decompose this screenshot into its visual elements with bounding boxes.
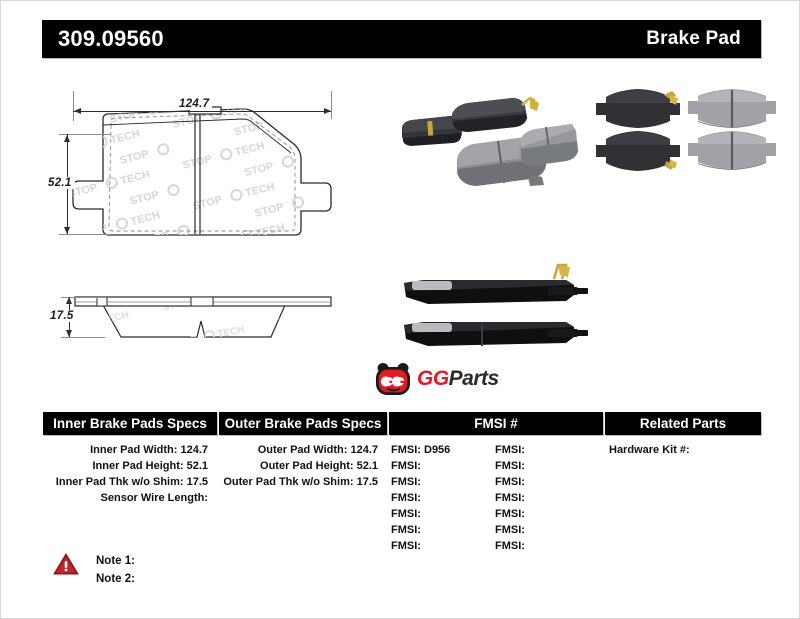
fmsi-row: FMSI: [495,458,525,474]
ext-line-bottom [59,234,111,235]
width-arrow-left [74,108,81,114]
height-arrow-down [64,227,70,234]
fmsi-row: FMSI: [391,490,450,506]
product-spec-sheet: 309.09560 Brake Pad STOP TECH STOP [0,0,800,619]
spec-row: Outer Pad Thk w/o Shim: 17.5 [219,474,387,490]
fmsi-row: FMSI: [391,458,450,474]
thk-arrow-down [66,330,72,337]
fmsi-list-column-b: FMSI: FMSI: FMSI: FMSI: FMSI: FMSI: FMSI… [495,442,525,554]
spec-row: Inner Pad Height: 52.1 [43,458,217,474]
header-bar: 309.09560 Brake Pad [42,20,761,58]
brake-pad-side-view: STOP TECH [43,283,383,353]
spec-row: Outer Pad Height: 52.1 [219,458,387,474]
related-parts-list: Hardware Kit #: [609,442,690,458]
fmsi-row: FMSI: [391,538,450,554]
height-arrow-up [64,135,70,142]
spec-row: Inner Pad Width: 124.7 [43,442,217,458]
fmsi-row: FMSI: [495,506,525,522]
ggparts-watermark: GGParts [364,356,524,402]
width-arrow-right [324,108,331,114]
thickness-dimension-value: 17.5 [47,310,77,322]
thk-arrow-up [66,297,72,304]
fmsi-row: FMSI: D956 [391,442,450,458]
fmsi-row: FMSI: [391,474,450,490]
table-header-outer-specs: Outer Brake Pads Specs [219,412,387,435]
fmsi-row: FMSI: [495,474,525,490]
ext-line-thk-bottom [61,337,105,338]
product-type-label: Brake Pad [646,28,741,50]
product-photo-flat-set [584,81,784,191]
table-header-related-parts: Related Parts [605,412,761,435]
width-dimension-value: 124.7 [176,98,212,110]
watermark-text: GGParts [417,367,499,391]
brake-pad-front-view: STOP TECH STOP [43,101,383,301]
height-dimension-value: 52.1 [45,177,75,189]
outer-specs-list: Outer Pad Width: 124.7 Outer Pad Height:… [219,442,387,490]
ggparts-logo-icon [374,360,412,398]
product-photo-side-profile [398,261,623,371]
warning-triangle-icon [53,553,79,576]
specifications-table: Inner Brake Pads Specs Outer Brake Pads … [43,412,761,544]
ext-line-right [331,91,332,119]
spec-row: Sensor Wire Length: [43,490,217,506]
width-dimension-line [73,111,331,112]
fmsi-row: FMSI: [495,538,525,554]
related-part-row: Hardware Kit #: [609,442,690,458]
fmsi-row: FMSI: [495,522,525,538]
fmsi-row: FMSI: [391,506,450,522]
note-lines: Note 1: Note 2: [96,552,135,588]
fmsi-row: FMSI: [495,442,525,458]
notes-section: Note 1: Note 2: [53,553,353,593]
table-header-fmsi: FMSI # [389,412,603,435]
watermark-parts: Parts [449,367,499,390]
fmsi-row: FMSI: [495,490,525,506]
technical-drawing-area: STOP TECH STOP [43,71,761,401]
fmsi-row: FMSI: [391,522,450,538]
spec-row: Outer Pad Width: 124.7 [219,442,387,458]
ext-line-left [73,91,74,121]
note-2: Note 2: [96,570,135,588]
watermark-gg: GG [417,367,449,390]
inner-specs-list: Inner Pad Width: 124.7 Inner Pad Height:… [43,442,217,506]
product-photo-perspective [394,81,579,191]
fmsi-list-column-a: FMSI: D956 FMSI: FMSI: FMSI: FMSI: FMSI:… [391,442,450,554]
note-1: Note 1: [96,552,135,570]
table-header-inner-specs: Inner Brake Pads Specs [43,412,217,435]
spec-row: Inner Pad Thk w/o Shim: 17.5 [43,474,217,490]
part-number: 309.09560 [58,26,164,52]
